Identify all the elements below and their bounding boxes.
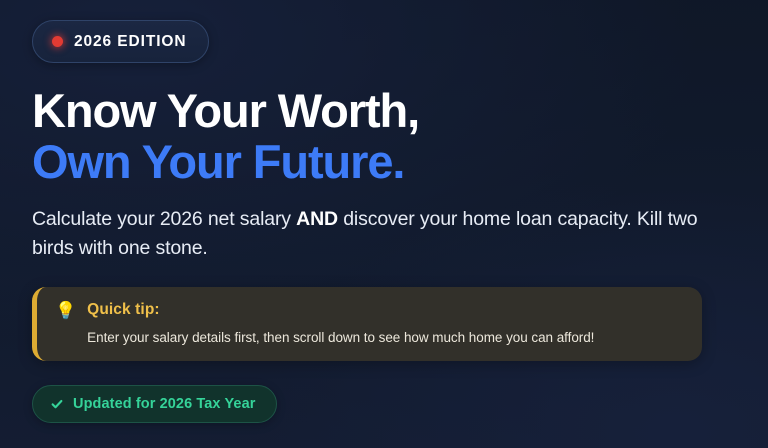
headline-line-primary: Know Your Worth,	[32, 85, 738, 136]
headline-line-accent: Own Your Future.	[32, 136, 738, 187]
hero-section: 2026 EDITION Know Your Worth, Own Your F…	[0, 0, 768, 448]
edition-badge-label: 2026 EDITION	[74, 33, 186, 51]
quick-tip-description: Enter your salary details first, then sc…	[87, 328, 682, 347]
updated-tax-year-label: Updated for 2026 Tax Year	[73, 396, 256, 412]
quick-tip-title: Quick tip:	[87, 300, 682, 320]
subtitle-part-one: Calculate your 2026 net salary	[32, 208, 296, 230]
quick-tip-body: Quick tip: Enter your salary details fir…	[87, 300, 682, 347]
red-status-dot-icon	[52, 36, 63, 47]
page-subtitle: Calculate your 2026 net salary AND disco…	[32, 205, 738, 263]
quick-tip-card: 💡 Quick tip: Enter your salary details f…	[32, 287, 702, 361]
updated-tax-year-badge: Updated for 2026 Tax Year	[32, 385, 277, 423]
edition-badge: 2026 EDITION	[32, 20, 209, 63]
page-title: Know Your Worth, Own Your Future.	[32, 85, 738, 187]
subtitle-emphasis: AND	[296, 208, 338, 230]
check-icon	[50, 397, 64, 411]
lightbulb-icon: 💡	[55, 301, 76, 321]
